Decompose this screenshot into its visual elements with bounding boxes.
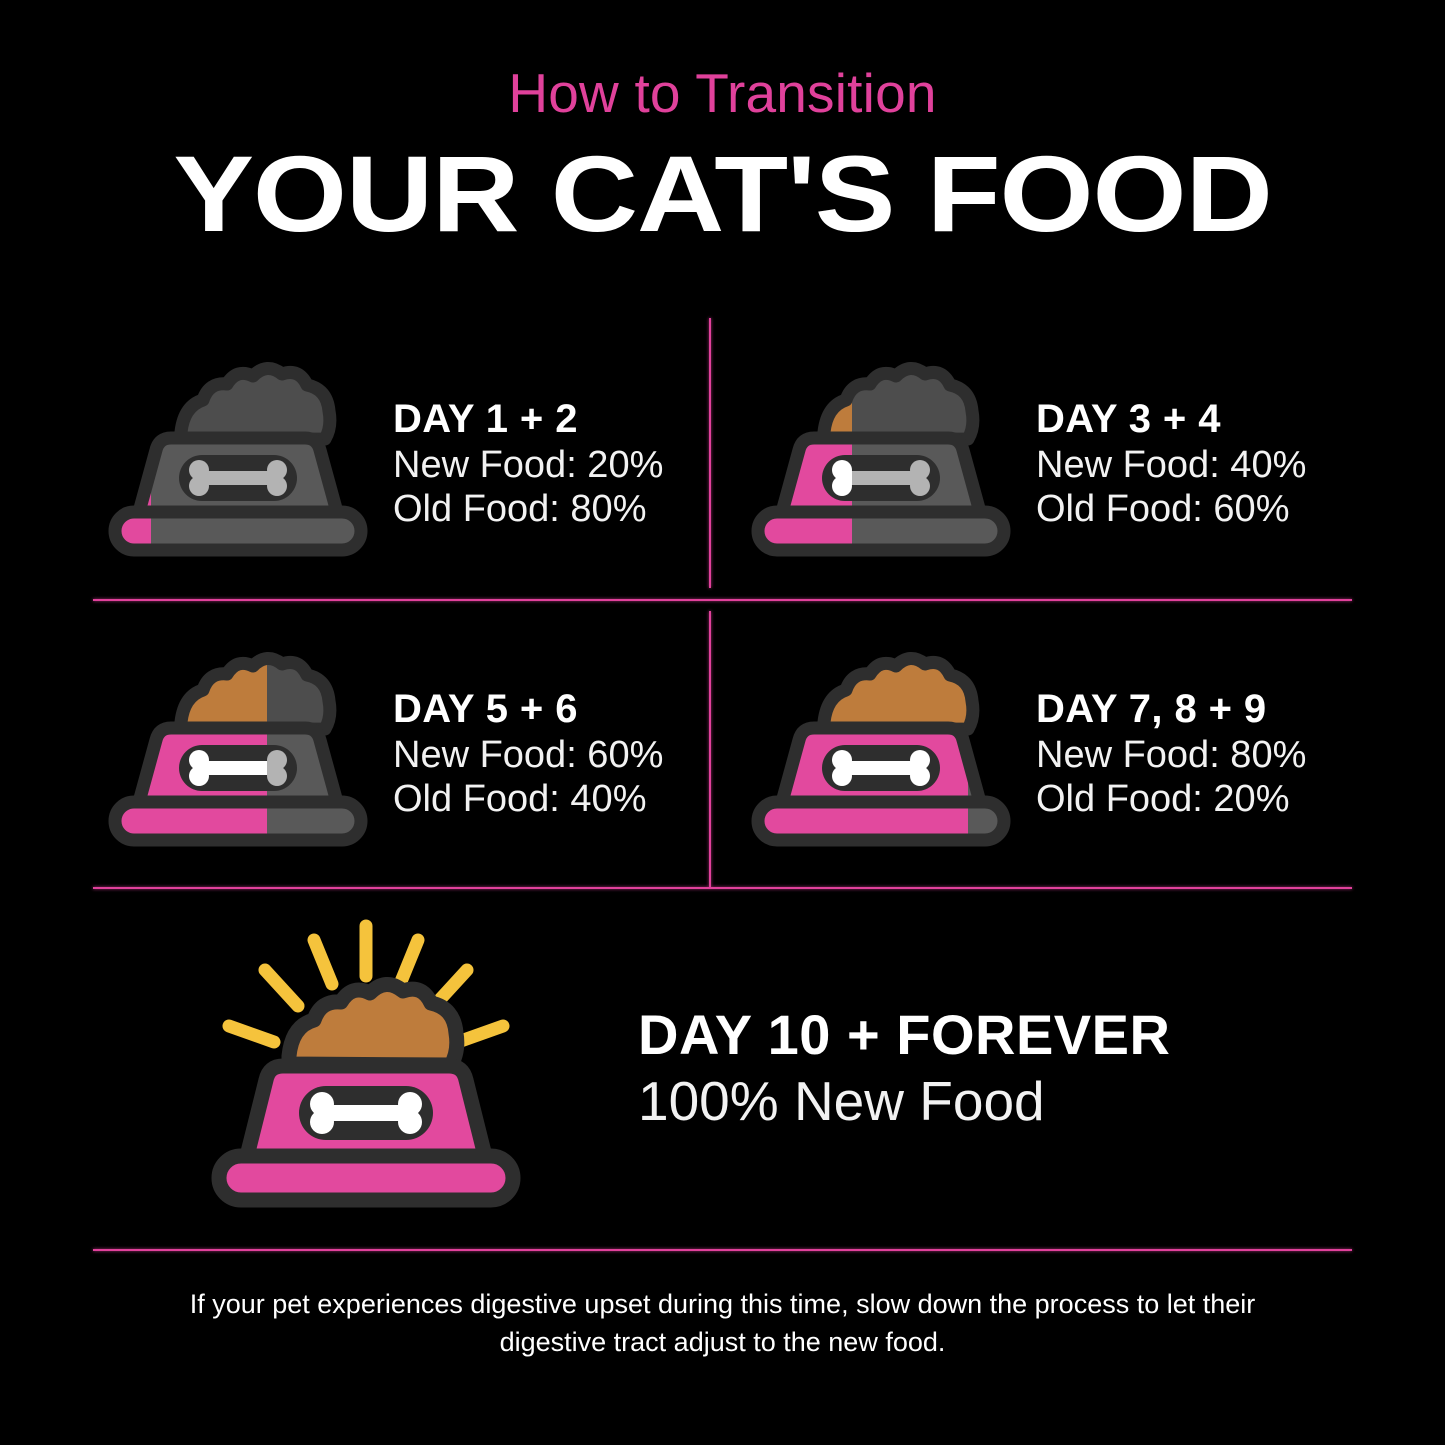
new-food-line: New Food: 80%: [1036, 733, 1306, 777]
divider-horizontal-middle: [93, 599, 1352, 601]
new-food-line: New Food: 40%: [1036, 443, 1306, 487]
cat-food-bowl-icon: [736, 360, 1026, 565]
step-card-day-1-2: DAY 1 + 2 New Food: 20% Old Food: 80%: [93, 340, 709, 585]
step-text-day-3-4: DAY 3 + 4 New Food: 40% Old Food: 60%: [1026, 395, 1306, 531]
divider-vertical-top: [709, 318, 711, 588]
new-food-line: 100% New Food: [638, 1068, 1352, 1134]
old-food-line: Old Food: 80%: [393, 487, 663, 531]
step-card-day-10-forever: DAY 10 + FOREVER 100% New Food: [93, 905, 1352, 1230]
step-text-day-10-forever: DAY 10 + FOREVER 100% New Food: [638, 1002, 1352, 1134]
footer-note: If your pet experiences digestive upset …: [150, 1285, 1295, 1361]
divider-vertical-bottom: [709, 611, 711, 887]
step-text-day-7-8-9: DAY 7, 8 + 9 New Food: 80% Old Food: 20%: [1026, 685, 1306, 821]
header: How to Transition YOUR CAT'S FOOD: [0, 62, 1445, 250]
page-title: YOUR CAT'S FOOD: [0, 138, 1445, 250]
step-text-day-5-6: DAY 5 + 6 New Food: 60% Old Food: 40%: [383, 685, 663, 821]
divider-horizontal-footer: [93, 1249, 1352, 1251]
divider-horizontal-lower: [93, 887, 1352, 889]
footer-line-2: digestive tract adjust to the new food.: [150, 1323, 1295, 1361]
day-label: DAY 1 + 2: [393, 395, 663, 443]
step-icon-day-1-2: [93, 360, 383, 565]
step-card-day-7-8-9: DAY 7, 8 + 9 New Food: 80% Old Food: 20%: [736, 630, 1352, 875]
day-label: DAY 3 + 4: [1036, 395, 1306, 443]
old-food-line: Old Food: 60%: [1036, 487, 1306, 531]
day-label: DAY 10 + FOREVER: [638, 1002, 1352, 1068]
new-food-line: New Food: 20%: [393, 443, 663, 487]
step-icon-day-5-6: [93, 650, 383, 855]
step-card-day-3-4: DAY 3 + 4 New Food: 40% Old Food: 60%: [736, 340, 1352, 585]
cat-food-bowl-icon: [201, 918, 531, 1218]
old-food-line: Old Food: 40%: [393, 777, 663, 821]
step-card-day-5-6: DAY 5 + 6 New Food: 60% Old Food: 40%: [93, 630, 709, 875]
eyebrow-text: How to Transition: [0, 62, 1445, 124]
day-label: DAY 7, 8 + 9: [1036, 685, 1306, 733]
day-label: DAY 5 + 6: [393, 685, 663, 733]
old-food-line: Old Food: 20%: [1036, 777, 1306, 821]
step-text-day-1-2: DAY 1 + 2 New Food: 20% Old Food: 80%: [383, 395, 663, 531]
step-icon-day-7-8-9: [736, 650, 1026, 855]
cat-food-bowl-icon: [93, 360, 383, 565]
new-food-line: New Food: 60%: [393, 733, 663, 777]
step-icon-day-10-forever: [93, 918, 638, 1218]
infographic-root: How to Transition YOUR CAT'S FOOD: [0, 0, 1445, 1445]
cat-food-bowl-icon: [736, 650, 1026, 855]
footer-line-1: If your pet experiences digestive upset …: [150, 1285, 1295, 1323]
cat-food-bowl-icon: [93, 650, 383, 855]
step-icon-day-3-4: [736, 360, 1026, 565]
